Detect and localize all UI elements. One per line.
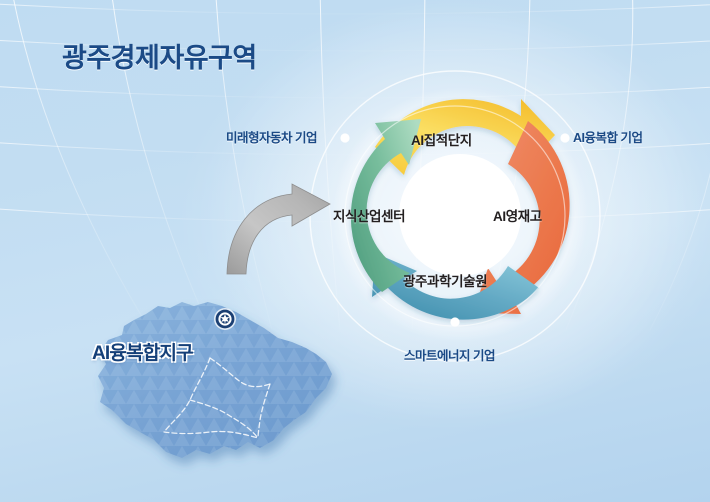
ring-label-smart-energy: 스마트에너지 기업 <box>404 345 495 364</box>
orbit-dot-ai-convergence <box>560 133 569 142</box>
ring-label-future-vehicle: 미래형자동차 기업 <box>226 127 317 146</box>
map-label-ai-district: AI융복합지구 <box>92 338 193 365</box>
orbit-dot-future-vehicle <box>340 133 349 142</box>
orbit-dot-smart-energy <box>450 317 459 326</box>
map-pin-icon <box>212 306 238 332</box>
ring-label-ai-convergence: AI융복합 기업 <box>573 127 642 146</box>
page-title: 광주경제자유구역 <box>62 36 257 75</box>
infographic-canvas: 광주경제자유구역 <box>0 0 710 502</box>
curved-arrow-icon <box>222 182 337 277</box>
